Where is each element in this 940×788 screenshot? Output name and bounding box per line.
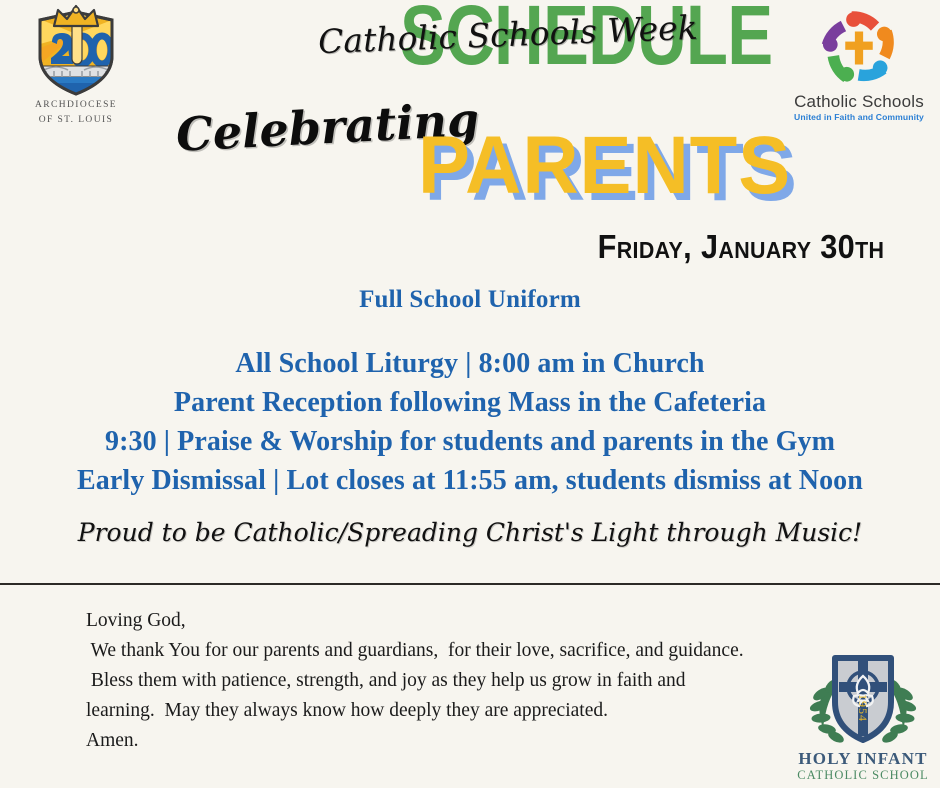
schedule-list: All School Liturgy | 8:00 am in Church P… — [0, 344, 940, 500]
crown-icon — [54, 6, 98, 26]
schedule-line: All School Liturgy | 8:00 am in Church — [0, 344, 940, 383]
schedule-line: Parent Reception following Mass in the C… — [0, 383, 940, 422]
prayer-line: We thank You for our parents and guardia… — [86, 636, 816, 666]
archdiocese-logo: ARCHDIOCESE OF ST. LOUIS — [24, 4, 128, 126]
prayer-line: Bless them with patience, strength, and … — [86, 666, 816, 696]
schedule-line: Early Dismissal | Lot closes at 11:55 am… — [0, 461, 940, 500]
prayer-line: Loving God, — [86, 606, 816, 636]
archdiocese-caption-line2: OF ST. LOUIS — [24, 114, 128, 126]
prayer-line: Amen. — [86, 726, 816, 756]
dress-code: Full School Uniform — [0, 286, 940, 314]
holy-infant-subtitle: CATHOLIC SCHOOL — [794, 768, 932, 782]
event-date: Friday, January 30th — [597, 228, 884, 266]
catholic-schools-circle-icon — [813, 4, 905, 92]
crest-year: 1954 — [856, 694, 870, 722]
parents-headline: PARENTS — [418, 124, 791, 208]
prayer-line: learning. May they always know how deepl… — [86, 696, 816, 726]
catholic-schools-logo: Catholic Schools United in Faith and Com… — [784, 4, 934, 122]
schedule-line: 9:30 | Praise & Worship for students and… — [0, 422, 940, 461]
cross-icon — [845, 32, 873, 65]
holy-infant-logo: 1954 HOLY INFANT CATHOLIC SCHOOL — [794, 646, 932, 782]
section-divider — [0, 583, 940, 585]
archdiocese-shield-icon — [30, 4, 122, 96]
holy-infant-crest-icon: 1954 — [801, 646, 925, 750]
archdiocese-caption-line1: ARCHDIOCESE — [24, 99, 128, 111]
school-motto: Proud to be Catholic/Spreading Christ's … — [0, 518, 940, 547]
catholic-schools-tagline: United in Faith and Community — [784, 112, 934, 122]
catholic-schools-title: Catholic Schools — [784, 93, 934, 111]
holy-infant-title: HOLY INFANT — [794, 750, 932, 768]
flyer-canvas: ARCHDIOCESE OF ST. LOUIS — [0, 0, 940, 788]
prayer-text: Loving God, We thank You for our parents… — [86, 606, 816, 756]
